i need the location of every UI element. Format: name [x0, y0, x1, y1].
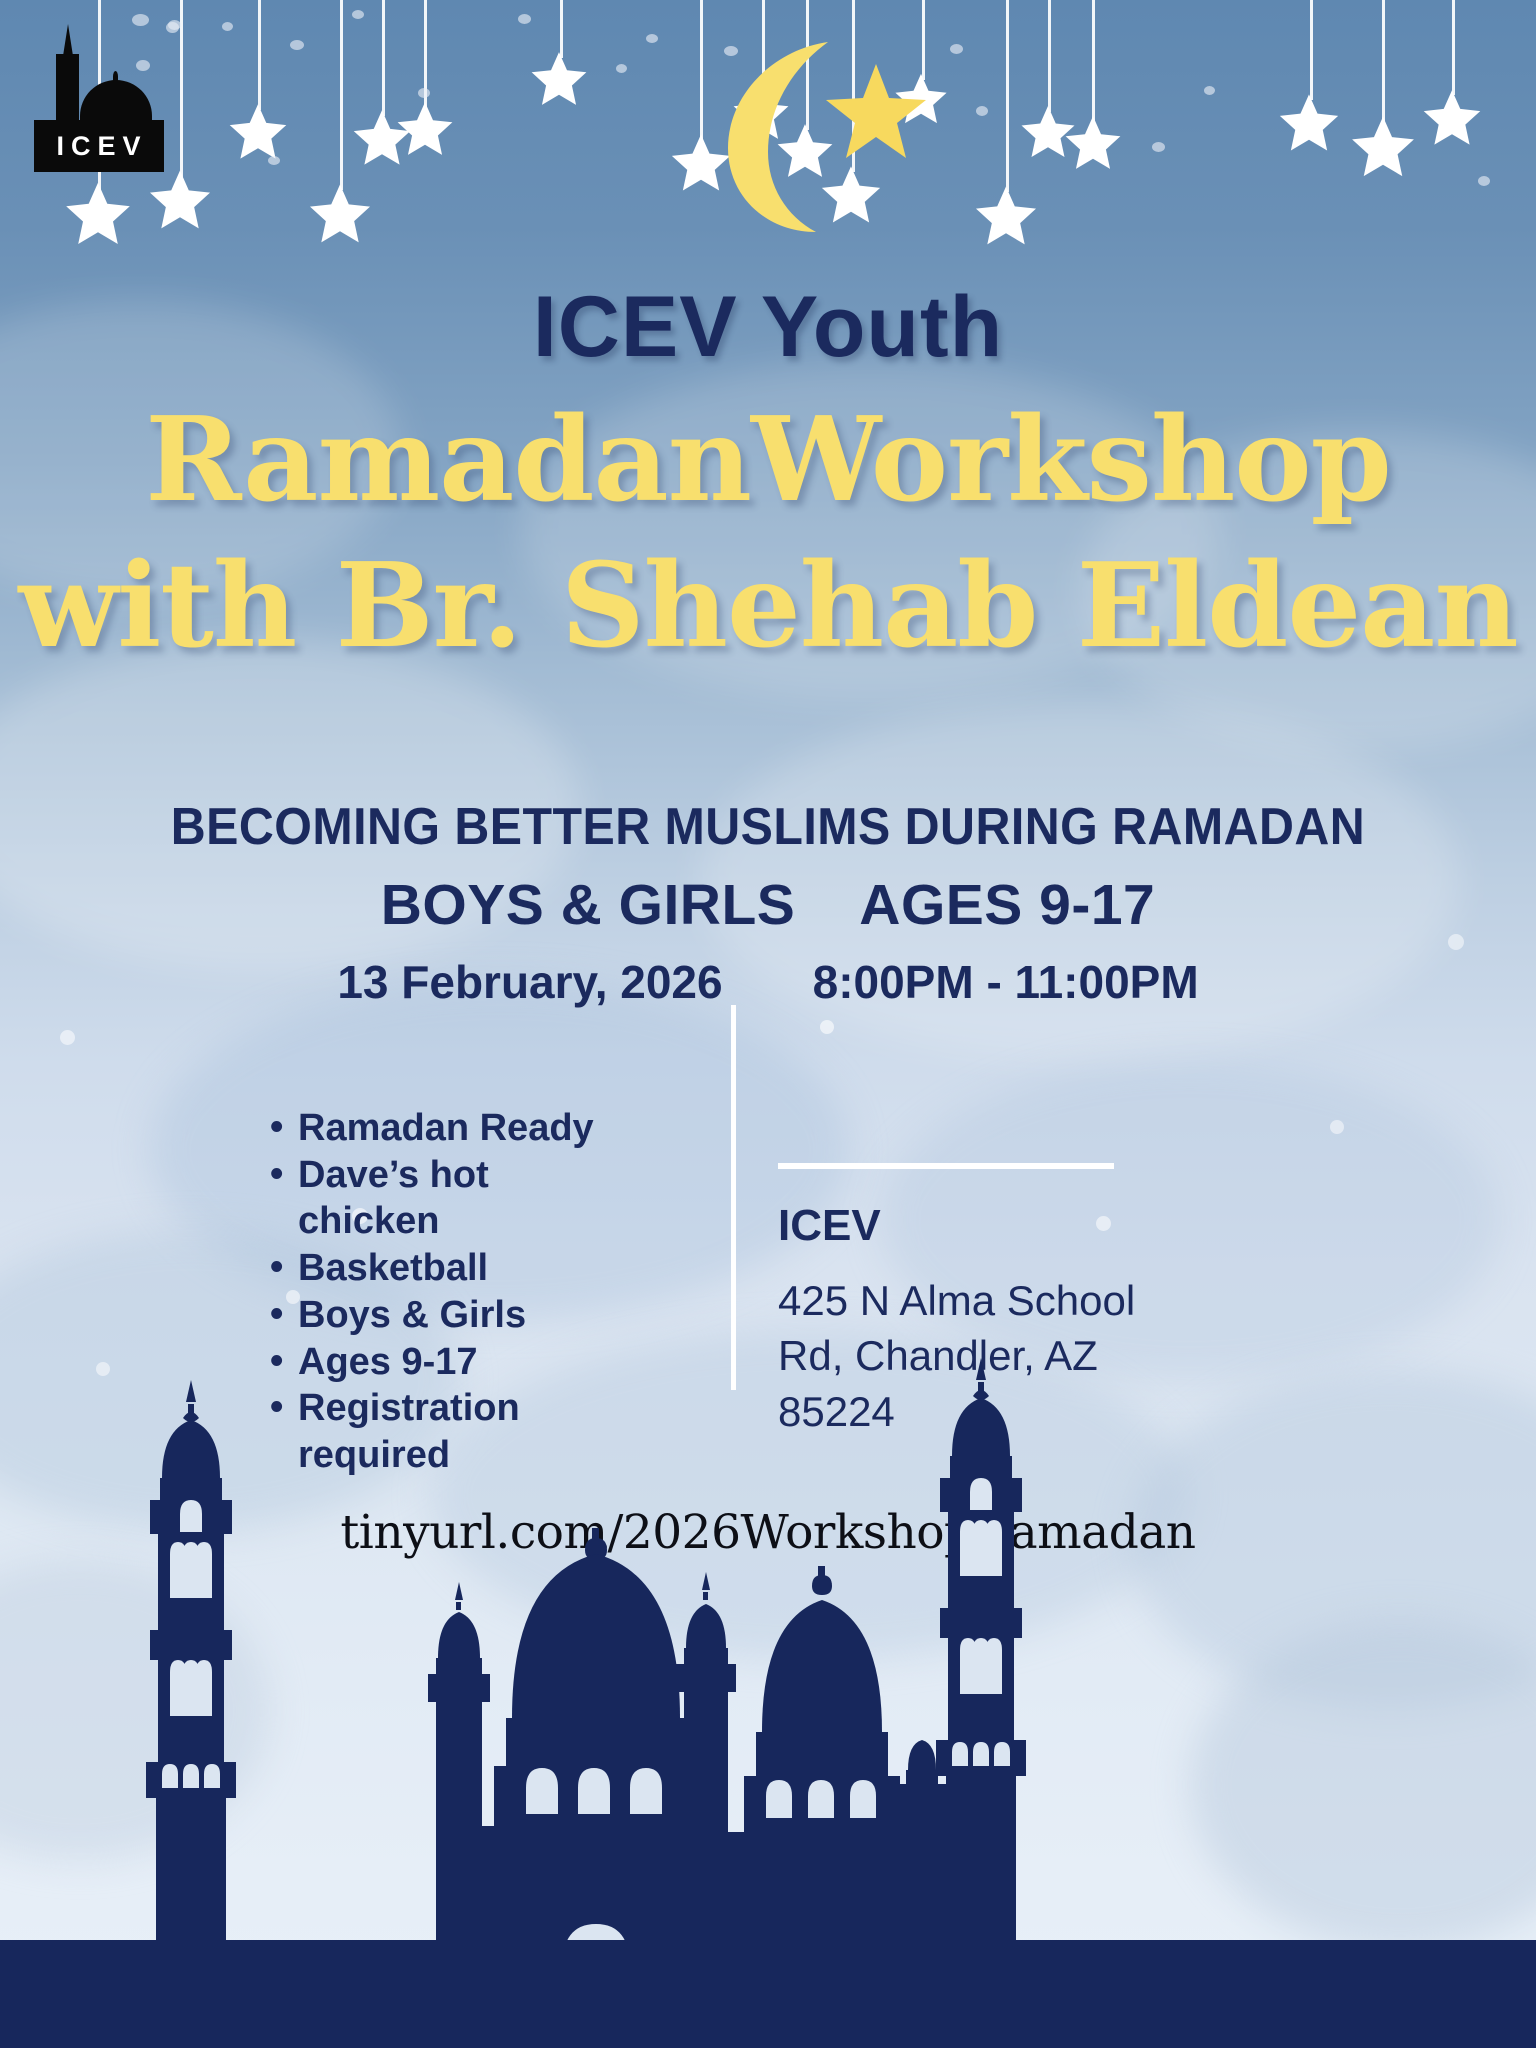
sparkle-dot	[950, 44, 963, 54]
crescent-moon-group	[680, 36, 940, 236]
sparkle-dot	[60, 1030, 75, 1045]
star-icon	[306, 180, 374, 248]
star-string	[382, 0, 385, 116]
cloud-blob	[1190, 1620, 1536, 1950]
star-icon	[528, 48, 590, 110]
sparkle-dot	[1204, 86, 1215, 95]
star-icon	[1420, 86, 1484, 150]
audience-ages: AGES 9-17	[859, 873, 1155, 937]
star-icon	[1348, 112, 1418, 182]
list-item: Basketball	[268, 1245, 598, 1292]
logo-plate: ICEV	[34, 120, 164, 172]
list-item: Ages 9-17	[268, 1339, 598, 1386]
registration-url[interactable]: tinyurl.com/2026WorkshopRamadan	[0, 1505, 1536, 1560]
sparkle-dot	[616, 64, 627, 73]
star-icon	[1276, 90, 1342, 156]
sparkle-dot	[352, 10, 364, 19]
venue-address-line-3: 85224	[778, 1384, 1198, 1439]
venue-address-line-2: Rd, Chandler, AZ	[778, 1328, 1198, 1383]
star-string	[1310, 0, 1313, 100]
venue-block: ICEV 425 N Alma School Rd, Chandler, AZ …	[778, 1163, 1198, 1439]
logo-minaret-icon	[56, 54, 79, 126]
page-kicker: ICEV Youth	[0, 278, 1536, 377]
star-icon	[826, 64, 926, 158]
schedule-row: 13 February, 20268:00PM - 11:00PM	[0, 955, 1536, 1009]
sparkle-dot	[418, 88, 430, 98]
star-string	[258, 0, 261, 110]
bottom-band	[0, 1940, 1536, 2048]
vertical-divider	[731, 1005, 736, 1390]
list-item: Ramadan Ready	[268, 1105, 598, 1152]
sparkle-dot	[166, 22, 179, 33]
sparkle-dot	[976, 106, 988, 116]
star-string	[340, 0, 343, 190]
event-time: 8:00PM - 11:00PM	[813, 956, 1199, 1008]
venue-address: 425 N Alma School Rd, Chandler, AZ 85224	[778, 1273, 1198, 1439]
icev-logo[interactable]: ICEV	[34, 42, 164, 172]
venue-address-line-1: 425 N Alma School	[778, 1273, 1198, 1328]
list-item: Registration required	[268, 1385, 598, 1478]
audience-row: BOYS & GIRLSAGES 9-17	[0, 872, 1536, 938]
list-item: Boys & Girls	[268, 1292, 598, 1339]
sparkle-dot	[268, 156, 280, 165]
sparkle-dot	[1152, 142, 1165, 152]
star-string	[1006, 0, 1009, 192]
ramadan-workshop-flyer: ICEV ICEV Youth RamadanWorkshop with Br.…	[0, 0, 1536, 2048]
sparkle-dot	[222, 22, 233, 31]
sparkle-dot	[646, 34, 658, 43]
event-date: 13 February, 2026	[337, 956, 722, 1008]
horizontal-divider	[778, 1163, 1114, 1169]
star-string	[1382, 0, 1385, 122]
crescent-moon-icon	[680, 36, 940, 236]
venue-name: ICEV	[778, 1201, 1198, 1251]
highlights-list: Ramadan Ready Dave’s hot chicken Basketb…	[268, 1105, 598, 1479]
details-columns: Ramadan Ready Dave’s hot chicken Basketb…	[0, 1105, 1536, 1525]
sparkle-dot	[132, 14, 149, 26]
logo-text: ICEV	[50, 131, 147, 162]
page-title-line1: RamadanWorkshop	[0, 392, 1536, 528]
sparkle-dot	[820, 1020, 834, 1034]
audience-gender: BOYS & GIRLS	[381, 873, 796, 937]
page-subtitle: BECOMING BETTER MUSLIMS DURING RAMADAN	[54, 797, 1482, 857]
cloud-blob	[0, 1560, 270, 1860]
star-string	[560, 0, 563, 58]
sparkle-dot	[1478, 176, 1490, 186]
star-string	[1048, 0, 1051, 112]
page-title-line2: with Br. Shehab Eldean	[0, 538, 1536, 674]
star-icon	[972, 182, 1040, 250]
sparkle-dot	[290, 40, 304, 50]
star-string	[1092, 0, 1095, 122]
star-string	[1452, 0, 1455, 95]
list-item: Dave’s hot chicken	[268, 1152, 598, 1245]
sparkle-dot	[518, 14, 531, 24]
sparkle-dot	[724, 46, 738, 56]
